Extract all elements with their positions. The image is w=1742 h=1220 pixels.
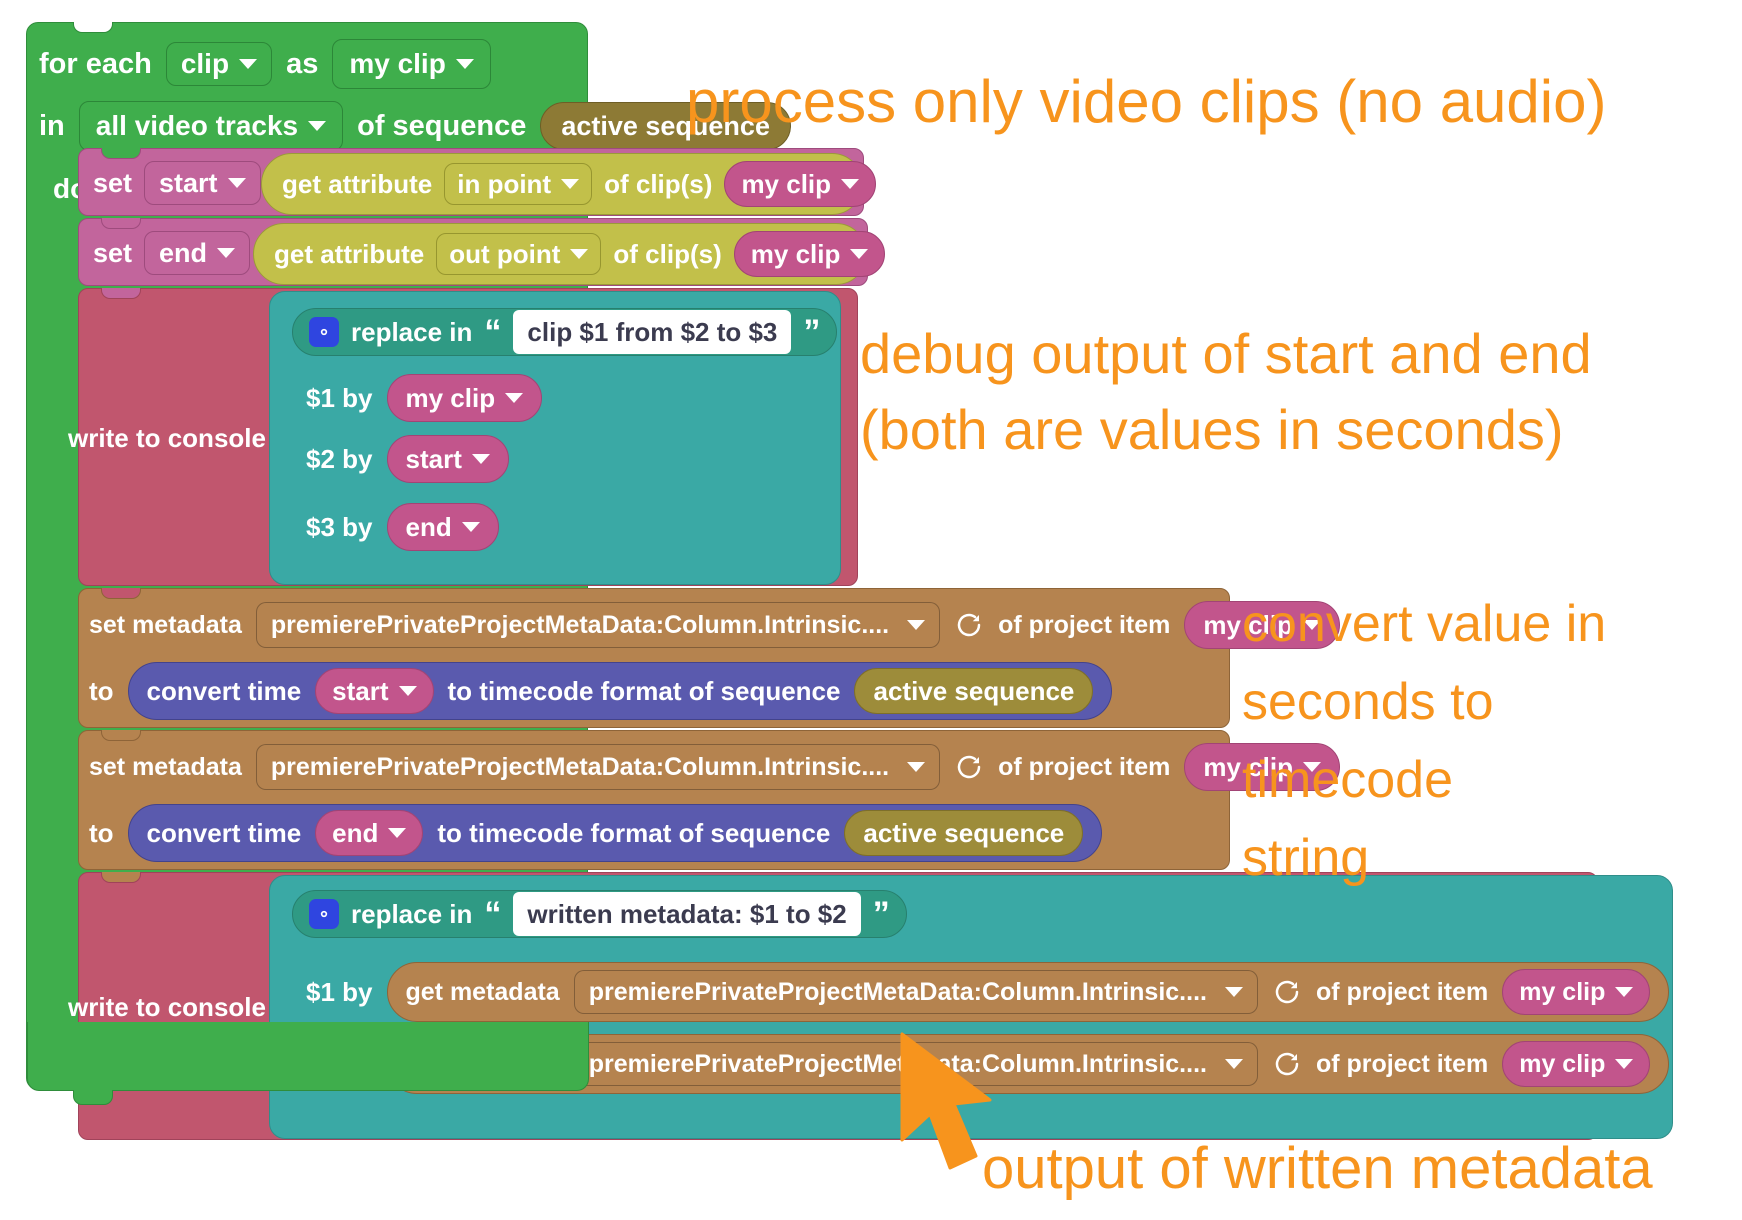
close-quote: ” [873,897,890,931]
set-metadata-key-row: set metadata premierePrivateProjectMetaD… [89,737,1340,797]
get-attribute-label: get attribute [282,169,432,200]
replace-in-block-1[interactable]: replace in “ clip $1 from $2 to $3 ” $1 … [269,291,841,585]
slot-label: $3 by [306,512,373,543]
metadata-key-dropdown[interactable]: premierePrivateProjectMetaData:Column.In… [256,744,940,790]
set-metadata-value-row: to convert time start to timecode format… [89,661,1112,721]
of-clips-label: of clip(s) [613,239,721,270]
project-item-dropdown[interactable]: my clip [1502,1041,1650,1087]
refresh-icon[interactable] [954,610,984,640]
chevron-down-icon [907,762,925,772]
get-metadata-block-1[interactable]: get metadata premierePrivateProjectMetaD… [387,962,1670,1022]
write-to-console-label: write to console [68,423,266,454]
set-metadata-key-row: set metadata premierePrivateProjectMetaD… [89,595,1340,655]
set-end-block[interactable]: set end to get attribute out point of cl… [78,218,868,286]
write-to-console-block-1[interactable]: write to console replace in “ clip $1 fr… [78,288,858,586]
chevron-down-icon [570,249,588,259]
project-item-dropdown[interactable]: my clip [1502,969,1650,1015]
get-attribute-in-point-block[interactable]: get attribute in point of clip(s) my cli… [261,153,863,215]
annotation-video-only: process only video clips (no audio) [686,72,1606,132]
close-quote: ” [803,315,820,349]
write-to-console-block-2[interactable]: write to console replace in “ written me… [78,872,1598,1140]
chevron-down-icon [841,179,859,189]
gear-icon[interactable] [309,317,339,347]
metadata-key-dropdown[interactable]: premierePrivateProjectMetaData:Column.In… [256,602,940,648]
attribute-dropdown[interactable]: out point [436,233,601,275]
annotation-convert-line-2: seconds to [1242,676,1494,728]
refresh-icon[interactable] [1272,977,1302,1007]
of-clips-label: of clip(s) [604,169,712,200]
get-attribute-label: get attribute [274,239,424,270]
set-metadata-label: set metadata [89,611,242,640]
substitution-row-2: $2 by start [306,435,509,483]
set-metadata-block-end[interactable]: set metadata premierePrivateProjectMetaD… [78,730,1230,870]
set-label: set [93,168,132,199]
chevron-down-icon [907,620,925,630]
to-label: to [89,676,114,707]
for-each-keyword: for each [39,48,152,81]
convert-time-label: convert time [147,676,302,707]
tracks-dropdown[interactable]: all video tracks [79,101,343,151]
loop-bottom-notch [73,1090,113,1105]
to-label: to [89,818,114,849]
annotation-convert-line-1: convert value in [1242,598,1606,650]
slot-label: $1 by [306,977,373,1008]
of-project-item-label: of project item [998,753,1170,782]
get-attribute-out-point-block[interactable]: get attribute out point of clip(s) my cl… [253,223,867,285]
set-label: set [93,238,132,269]
set-metadata-block-start[interactable]: set metadata premierePrivateProjectMetaD… [78,588,1230,728]
gear-icon[interactable] [309,899,339,929]
sequence-pill[interactable]: active sequence [844,810,1083,856]
annotation-debug-line-2: (both are values in seconds) [860,402,1564,458]
in-keyword: in [39,110,65,143]
chevron-down-icon [1225,987,1243,997]
chevron-down-icon [399,686,417,696]
timecode-format-label: to timecode format of sequence [448,676,841,707]
timecode-format-label: to timecode format of sequence [437,818,830,849]
slot-label: $1 by [306,383,373,414]
open-quote: “ [484,897,501,931]
item-type-dropdown[interactable]: clip [166,42,272,86]
chevron-down-icon [388,828,406,838]
metadata-key-dropdown[interactable]: premierePrivateProjectMetaData:Column.In… [574,970,1258,1014]
loop-variable-dropdown[interactable]: my clip [332,39,490,89]
my-clip-variable-pill[interactable]: my clip [734,231,886,277]
of-project-item-label: of project item [1316,978,1488,1007]
start-variable-dropdown[interactable]: start [144,161,261,205]
chevron-down-icon [561,179,579,189]
set-metadata-label: set metadata [89,753,242,782]
chevron-down-icon [217,248,235,258]
refresh-icon[interactable] [1272,1049,1302,1079]
substitution-row-3: $3 by end [306,503,499,551]
annotation-debug-line-1: debug output of start and end [860,326,1592,382]
arrow-cursor [890,1028,1010,1178]
block-notch [73,22,113,33]
chevron-down-icon [472,454,490,464]
get-metadata-label: get metadata [406,978,560,1007]
of-project-item-label: of project item [1316,1050,1488,1079]
substitution-row-1: $1 by my clip [306,374,542,422]
substitution-value-dropdown[interactable]: end [387,503,499,551]
convert-variable-dropdown[interactable]: end [315,810,423,856]
chevron-down-icon [1615,987,1633,997]
block-editor-canvas: for each clip as my clip in all video tr… [0,0,1742,1220]
chevron-down-icon [456,59,474,69]
chevron-down-icon [1225,1059,1243,1069]
for-each-source-row: in all video tracks of sequence active s… [39,101,791,151]
write-to-console-label: write to console [68,992,266,1023]
replace-in-header-1[interactable]: replace in “ clip $1 from $2 to $3 ” [292,308,837,356]
substitution-value-dropdown[interactable]: start [387,435,509,483]
replace-in-header-2[interactable]: replace in “ written metadata: $1 to $2 … [292,890,907,938]
set-metadata-value-row: to convert time end to timecode format o… [89,803,1102,863]
replace-in-label: replace in [351,899,472,930]
annotation-convert-line-4: string [1242,832,1369,884]
chevron-down-icon [850,249,868,259]
console-template-input-2[interactable]: written metadata: $1 to $2 [513,892,860,936]
substitution-value-dropdown[interactable]: my clip [387,374,543,422]
attribute-dropdown[interactable]: in point [444,163,592,205]
chevron-down-icon [505,393,523,403]
chevron-down-icon [462,522,480,532]
as-keyword: as [286,48,318,81]
loop-bottom-bar [27,1022,589,1091]
of-project-item-label: of project item [998,611,1170,640]
convert-time-block-end[interactable]: convert time end to timecode format of s… [128,804,1103,862]
console-template-input-1[interactable]: clip $1 from $2 to $3 [513,310,791,354]
for-each-header-row: for each clip as my clip [39,39,491,89]
of-sequence-label: of sequence [357,110,526,143]
annotation-output-metadata: output of written metadata [982,1140,1653,1198]
replace-in-label: replace in [351,317,472,348]
chevron-down-icon [1615,1059,1633,1069]
chevron-down-icon [228,178,246,188]
chevron-down-icon [308,121,326,131]
substitution-getmeta-row-1: $1 by get metadata premierePrivateProjec… [306,962,1669,1022]
my-clip-variable-pill[interactable]: my clip [724,161,876,207]
set-start-block[interactable]: set start to get attribute in point of c… [78,148,864,216]
sequence-pill[interactable]: active sequence [854,668,1093,714]
convert-time-block-start[interactable]: convert time start to timecode format of… [128,662,1113,720]
chevron-down-icon [239,59,257,69]
slot-label: $2 by [306,444,373,475]
open-quote: “ [484,315,501,349]
refresh-icon[interactable] [954,752,984,782]
annotation-convert-line-3: timecode [1242,754,1453,806]
convert-time-label: convert time [147,818,302,849]
end-variable-dropdown[interactable]: end [144,231,250,275]
convert-variable-dropdown[interactable]: start [315,668,433,714]
